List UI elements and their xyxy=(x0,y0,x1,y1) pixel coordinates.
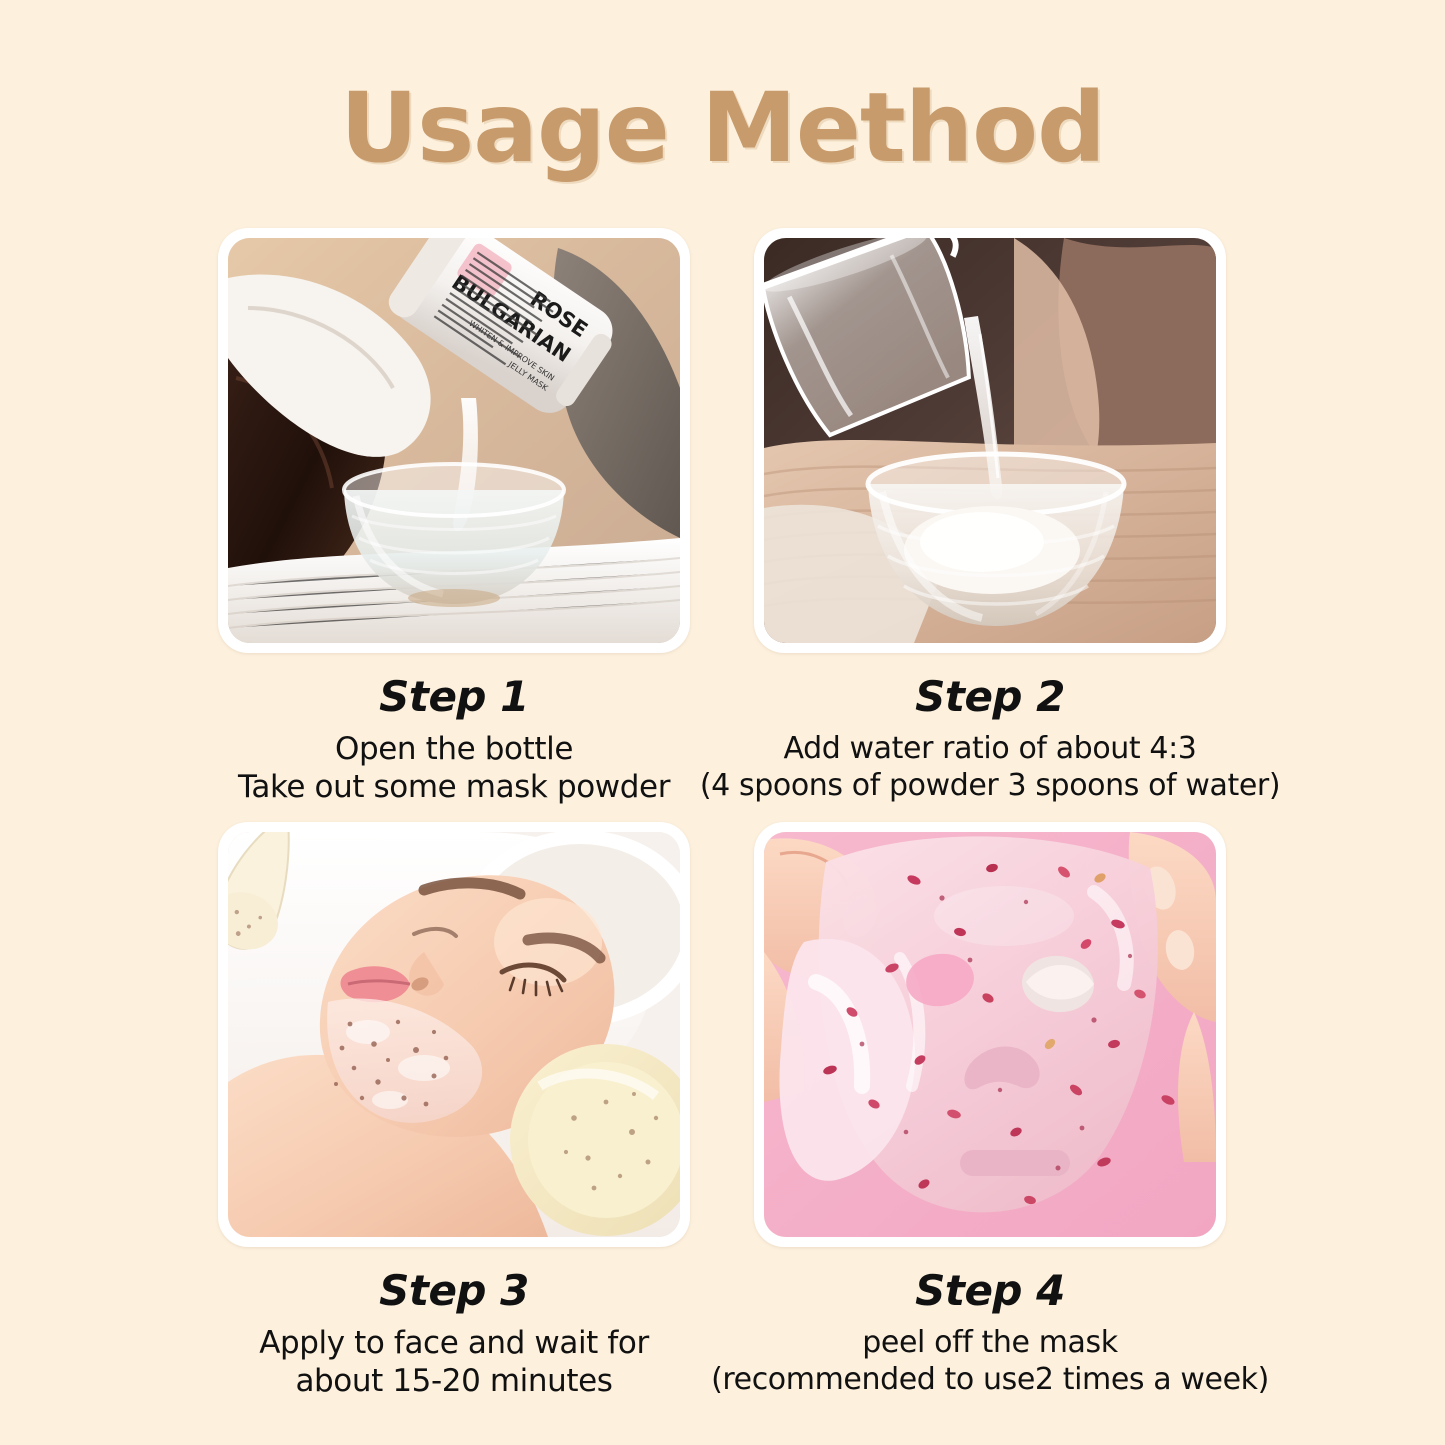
page-title: Usage Method xyxy=(0,78,1445,179)
step-card-4: Step 4 peel off the mask (recommended to… xyxy=(670,822,1310,1398)
step-1-photo: ROSE BULGARIAN WHITEN & IMPROVE SKIN JEL… xyxy=(228,238,680,643)
step-4-description: peel off the mask (recommended to use2 t… xyxy=(670,1325,1310,1398)
step-4-caption: Step 4 peel off the mask (recommended to… xyxy=(670,1269,1310,1398)
step-2-description: Add water ratio of about 4:3 (4 spoons o… xyxy=(670,731,1310,804)
step-4-label: Step 4 xyxy=(670,1269,1310,1313)
step-3-photo xyxy=(228,832,680,1237)
step-2-label: Step 2 xyxy=(670,675,1310,719)
usage-method-infographic: Usage Method xyxy=(0,0,1445,1445)
step-card-2: Step 2 Add water ratio of about 4:3 (4 s… xyxy=(670,228,1310,804)
step-2-caption: Step 2 Add water ratio of about 4:3 (4 s… xyxy=(670,675,1310,804)
step-3-image-frame xyxy=(218,822,690,1247)
step-4-image-frame xyxy=(754,822,1226,1247)
step-2-photo xyxy=(764,238,1216,643)
step-4-photo xyxy=(764,832,1216,1237)
steps-grid: ROSE BULGARIAN WHITEN & IMPROVE SKIN JEL… xyxy=(0,228,1445,1416)
step-2-image-frame xyxy=(754,228,1226,653)
steps-row-2: Step 3 Apply to face and wait for about … xyxy=(0,822,1445,1416)
steps-row-1: ROSE BULGARIAN WHITEN & IMPROVE SKIN JEL… xyxy=(0,228,1445,822)
step-1-image-frame: ROSE BULGARIAN WHITEN & IMPROVE SKIN JEL… xyxy=(218,228,690,653)
